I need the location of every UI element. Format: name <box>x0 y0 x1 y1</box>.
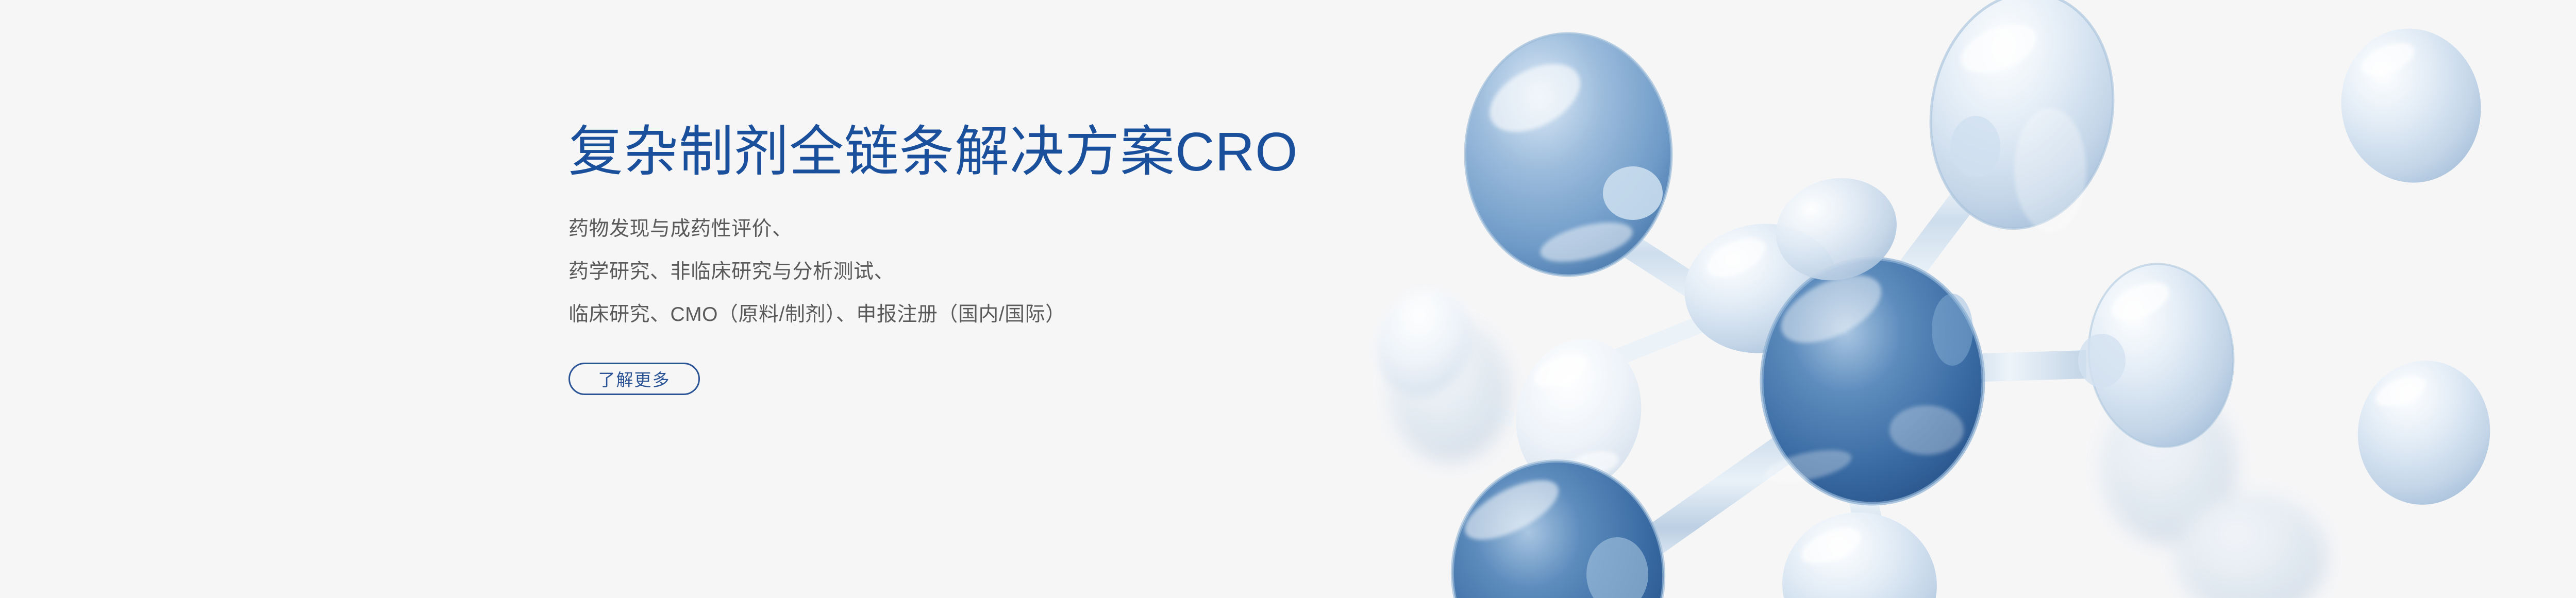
subtitle-line-2: 药学研究、非临床研究与分析测试、 <box>568 250 1445 293</box>
molecule-bonds <box>1418 178 2210 593</box>
molecule-atoms <box>1365 0 2499 598</box>
atom-top-center-glass <box>1765 165 1908 293</box>
glass-molecule-illustration <box>1365 0 2576 598</box>
atom-far-right-upper <box>2329 18 2493 194</box>
subtitle-line-3: 临床研究、CMO（原料/制剂）、申报注册（国内/国际） <box>568 293 1445 336</box>
atom-bottom-left-deep <box>1441 451 1675 598</box>
atom-top-right <box>1913 0 2132 243</box>
page-title: 复杂制剂全链条解决方案CRO <box>568 122 1445 183</box>
hero-subtitle: 药物发现与成药性评价、 药学研究、非临床研究与分析测试、 临床研究、CMO（原料… <box>568 208 1445 336</box>
atom-top-left <box>1465 33 1671 276</box>
atom-bottom-center <box>1775 505 1944 598</box>
atom-far-right-lower <box>2349 352 2499 514</box>
atom-right-pale <box>2078 257 2243 454</box>
atom-mid-pale <box>1676 214 1847 363</box>
hero-copy-block: 复杂制剂全链条解决方案CRO 药物发现与成药性评价、 药学研究、非临床研究与分析… <box>568 122 1445 395</box>
hero-banner: 复杂制剂全链条解决方案CRO 药物发现与成药性评价、 药学研究、非临床研究与分析… <box>0 0 2576 598</box>
subtitle-line-1: 药物发现与成药性评价、 <box>568 208 1445 250</box>
atom-left-pale <box>1502 327 1655 502</box>
molecule-background-atoms <box>1391 322 2326 598</box>
atom-center-deep-blue <box>1762 259 1983 504</box>
learn-more-button[interactable]: 了解更多 <box>568 363 700 395</box>
